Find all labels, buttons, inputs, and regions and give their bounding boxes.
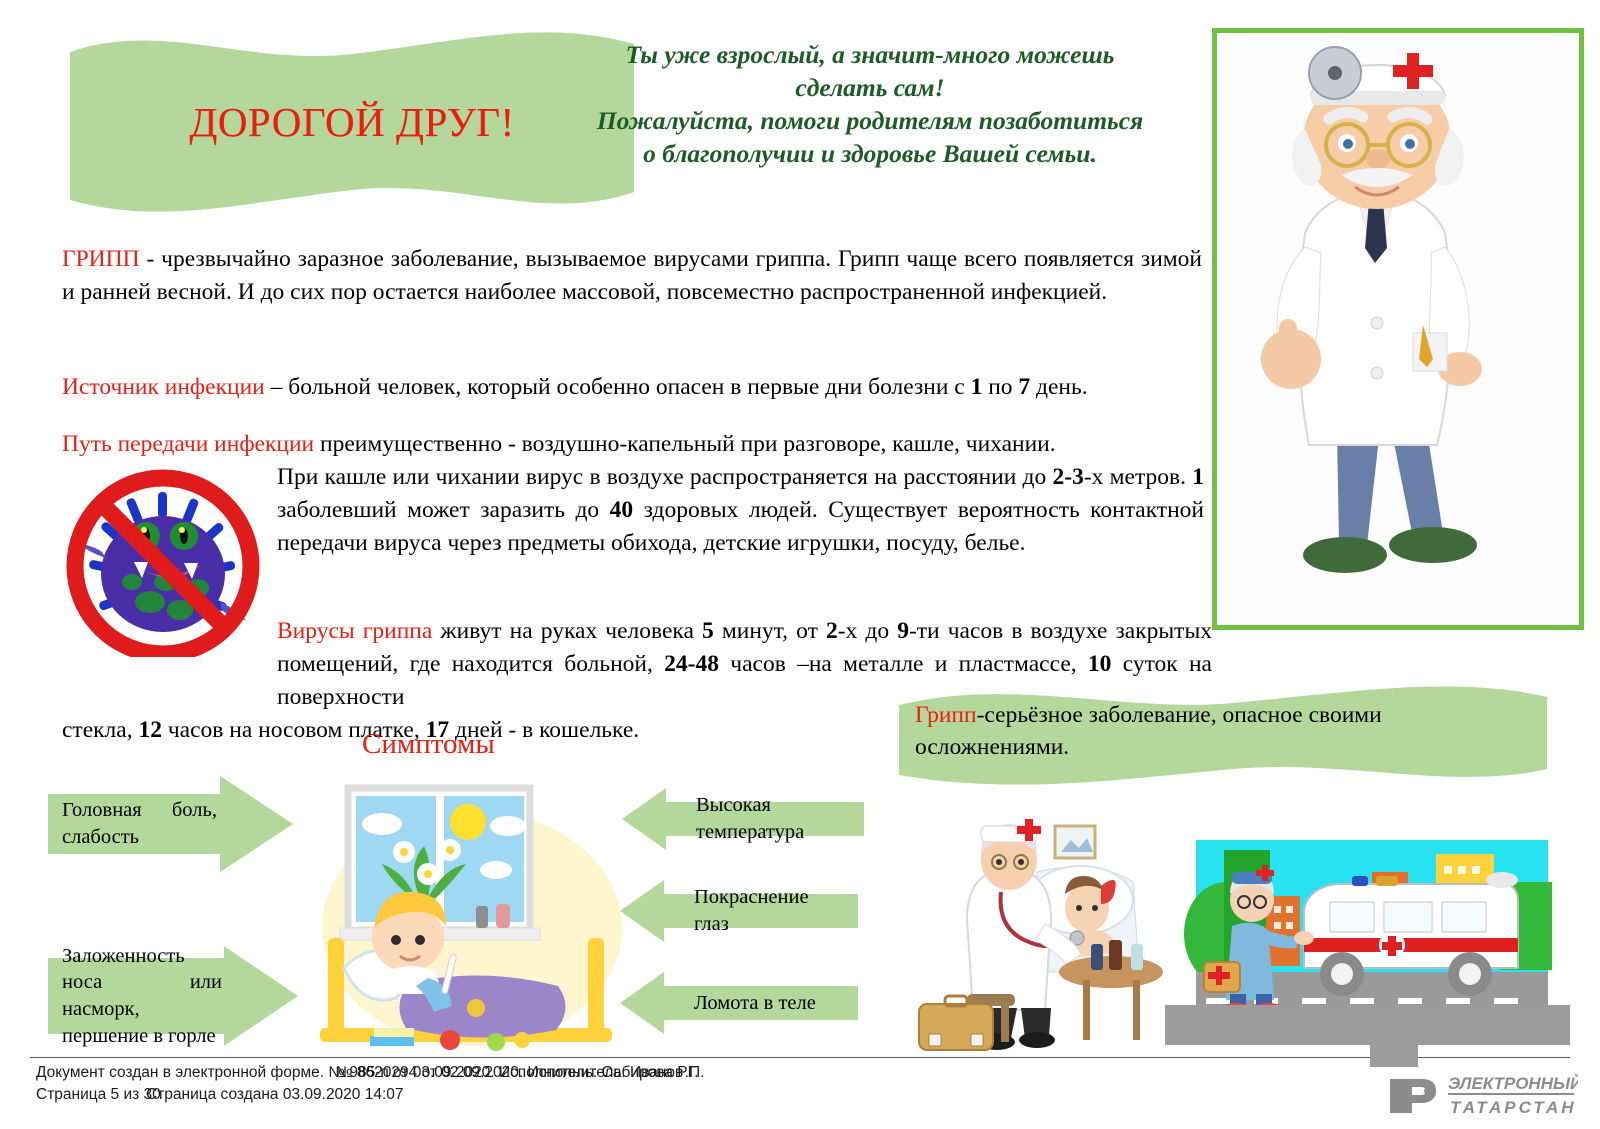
p1-heading: ГРИПП xyxy=(62,246,140,272)
gray-bar-upper xyxy=(1165,1005,1570,1045)
electronic-tatarstan-logo: ЭЛЕКТРОННЫЙ ТАТАРСТАН xyxy=(1388,1065,1578,1119)
footer-divider xyxy=(30,1057,1570,1058)
p3-number-3: 40 xyxy=(610,497,634,523)
p4-number-1: 5 xyxy=(702,618,714,644)
p4-number-5: 10 xyxy=(1088,651,1112,677)
banner2-body: -серьёзное заболевание, опасное своими о… xyxy=(915,702,1382,760)
p2-text-2: по xyxy=(982,374,1018,400)
child-in-bed-icon xyxy=(300,778,630,1053)
slogan-line-1: Ты уже взрослый, а значит-много можешь xyxy=(520,38,1220,71)
sick-child-illustration xyxy=(300,778,630,1053)
p1-body: - чрезвычайно заразное заболевание, вызы… xyxy=(62,246,1202,305)
paragraph-infection-source: Источник инфекции – больной человек, кот… xyxy=(62,371,1207,404)
p3-lead: преимущественно - воздушно-капельный при… xyxy=(314,431,1055,457)
slogan-line-4: о благополучии и здоровье Вашей семьи. xyxy=(520,137,1220,170)
p4-number-6: 12 xyxy=(138,717,162,743)
footer-row-1: Документ создан в электронной форме. № 9… xyxy=(36,1062,1236,1084)
doctor-examining-child-icon xyxy=(905,808,1175,1053)
p4-number-2: 2 xyxy=(826,618,838,644)
footer-stamp: Документ создан в электронной форме. № 9… xyxy=(36,1062,1236,1106)
header-slogan: Ты уже взрослый, а значит-много можешь с… xyxy=(520,38,1220,171)
complications-text: Грипп-серьёзное заболевание, опасное сво… xyxy=(915,700,1525,763)
p3-text-1: При кашле или чихании вирус в воздухе ра… xyxy=(277,464,1053,490)
title-text: ДОРОГОЙ ДРУГ! xyxy=(189,98,514,146)
p2-text-1: – больной человек, который особенно опас… xyxy=(265,374,971,400)
poster-page: ДОРОГОЙ ДРУГ! Ты уже взрослый, а значит-… xyxy=(0,0,1600,1129)
footer-doc-line-b: № 8620294 от 02.09.2020. Исполнитель: Ив… xyxy=(336,1062,698,1084)
p2-number-1: 1 xyxy=(971,374,983,400)
symptom-label: Высокая температура xyxy=(696,788,852,850)
p4-heading: Вирусы гриппа xyxy=(277,618,432,644)
footer-page-line-b: Страница создана 03.09.2020 14:07 xyxy=(146,1084,404,1106)
p4-text-5: часов –на металле и пластмассе, xyxy=(719,651,1088,677)
symptom-label: Покраснение глаз xyxy=(694,880,846,942)
cartoon-doctor-icon xyxy=(1217,33,1579,625)
p4-text-2: минут, от xyxy=(714,618,826,644)
symptom-arrow-headache: Головная боль, слабость xyxy=(48,776,293,872)
doctor-visit-illustration xyxy=(905,808,1175,1053)
footer-page-line-a: Страница 5 из 30 xyxy=(36,1084,161,1106)
symptom-label: Головная боль, слабость xyxy=(62,776,217,872)
symptom-arrow-fever: Высокая температура xyxy=(622,788,864,850)
logo-line-2: ТАТАРСТАН xyxy=(1450,1098,1577,1117)
p4-number-4: 24-48 xyxy=(664,651,719,677)
doctor-image-frame xyxy=(1212,28,1584,630)
footer-row-2: Страница 5 из 30 Страница создана 03.09.… xyxy=(36,1084,1236,1106)
p3-text-2: -х метров. xyxy=(1084,464,1192,490)
p4-text-1: живут на руках человека xyxy=(432,618,702,644)
slogan-line-2: сделать сам! xyxy=(520,71,1220,104)
symptom-label: Ломота в теле xyxy=(694,972,846,1034)
p3-number-1: 2-3 xyxy=(1053,464,1084,490)
paragraph-flu-definition: ГРИПП - чрезвычайно заразное заболевание… xyxy=(62,243,1202,309)
symptom-arrow-nasal: Заложенность носа или насморк, першение … xyxy=(48,946,298,1046)
p3-heading: Путь передачи инфекции xyxy=(62,431,314,457)
symptoms-heading: Симптомы xyxy=(362,728,495,761)
p3-text-3: заболевший может заразить до xyxy=(277,497,610,523)
p3-detail: При кашле или чихании вирус в воздухе ра… xyxy=(277,461,1204,560)
p2-number-2: 7 xyxy=(1018,374,1030,400)
p4-number-3: 9 xyxy=(897,618,909,644)
symptom-arrow-body-ache: Ломота в теле xyxy=(620,972,858,1034)
p2-text-3: день. xyxy=(1030,374,1087,400)
symptom-arrow-red-eyes: Покраснение глаз xyxy=(620,880,858,942)
gray-bar-lower xyxy=(1370,1045,1418,1067)
p4-text-3: -х до xyxy=(838,618,898,644)
slogan-line-3: Пожалуйста, помоги родителям позаботитьс… xyxy=(520,104,1220,137)
logo-mark-icon: ЭЛЕКТРОННЫЙ ТАТАРСТАН xyxy=(1388,1065,1578,1119)
p2-heading: Источник инфекции xyxy=(62,374,265,400)
logo-line-1: ЭЛЕКТРОННЫЙ xyxy=(1448,1073,1578,1093)
p4-tail-1: стекла, xyxy=(62,717,138,743)
symptom-label: Заложенность носа или насморк, першение … xyxy=(62,946,222,1046)
p3-number-2: 1 xyxy=(1192,464,1204,490)
banner2-heading: Грипп xyxy=(915,702,977,728)
